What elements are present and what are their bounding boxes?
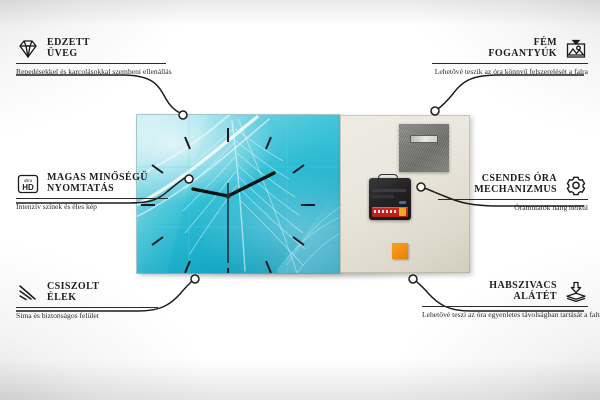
clock-mechanism: [369, 178, 411, 220]
callout-title: CSISZOLT ÉLEK: [47, 282, 99, 303]
ultra-hd-icon: ultra HD: [16, 173, 40, 195]
foam-pad-sample: [392, 243, 408, 259]
callout-rule: [432, 63, 588, 64]
callout-title-row: HABSZIVACS ALÁTÉT: [422, 281, 588, 303]
callout-title: CSENDES ÓRA MECHANIZMUS: [474, 174, 557, 195]
title-line-2: NYOMTATÁS: [47, 184, 148, 195]
battery-text: [374, 210, 398, 213]
background-vignette-top: [0, 0, 600, 26]
battery: [372, 207, 408, 217]
callout-title: HABSZIVACS ALÁTÉT: [489, 281, 557, 302]
svg-text:HD: HD: [22, 183, 34, 192]
callout-description-text: Lehetővé teszi az óra egyenletes távolsá…: [422, 310, 600, 319]
metal-hook-plate: [399, 124, 449, 172]
callout-rule: [438, 199, 588, 200]
mechanism-band-secondary: [372, 195, 394, 198]
callout-description: Lehetővé teszi az óra egyenletes távolsá…: [422, 310, 588, 320]
hanger-slot: [410, 135, 438, 143]
gear-icon: [564, 174, 588, 196]
foam-press-icon: [564, 281, 588, 303]
callout-description: Óramutatók hang nélkül: [438, 203, 588, 213]
callout-title-row: FÉM FOGANTYÚK: [432, 38, 588, 60]
title-line-2: MECHANIZMUS: [474, 185, 557, 196]
callout-description: Repedésekkel és karcolásokkal szembeni e…: [16, 67, 166, 77]
callout-title: FÉM FOGANTYÚK: [488, 38, 557, 59]
diamond-icon: [16, 38, 40, 60]
callout-title: MAGAS MINŐSÉGŰ NYOMTATÁS: [47, 173, 148, 194]
minute-hand: [228, 173, 274, 196]
callout-rule: [422, 306, 588, 307]
callout-title-row: CSISZOLT ÉLEK: [16, 282, 158, 304]
clock-center-cap: [225, 193, 230, 198]
product-image: [137, 115, 470, 273]
title-line-2: ÉLEK: [47, 293, 99, 304]
callout-description-text: Óramutatók hang nélkül: [514, 203, 588, 212]
callout-tempered-glass[interactable]: EDZETT ÜVEG Repedésekkel és karcolásokka…: [16, 38, 166, 77]
picture-hanger-icon: [564, 38, 588, 60]
callout-title-row: ultra HD MAGAS MINŐSÉGŰ NYOMTATÁS: [16, 173, 168, 195]
callout-high-quality-print[interactable]: ultra HD MAGAS MINŐSÉGŰ NYOMTATÁS Intenz…: [16, 173, 168, 212]
callout-title-row: CSENDES ÓRA MECHANIZMUS: [438, 174, 588, 196]
callout-title: EDZETT ÜVEG: [47, 38, 90, 59]
callout-rule: [16, 63, 166, 64]
callout-description: Lehetővé teszik az óra könnyű felszerelé…: [432, 67, 588, 77]
metal-grain-texture: [399, 124, 449, 172]
title-line-2: FOGANTYÚK: [488, 49, 557, 60]
title-line-2: ALÁTÉT: [489, 292, 557, 303]
mechanism-band: [372, 189, 406, 192]
callout-metal-hooks[interactable]: FÉM FOGANTYÚK Lehetővé teszik az óra kön…: [432, 38, 588, 77]
callout-rule: [16, 307, 158, 308]
mechanism-hanger-loop: [378, 174, 398, 183]
callout-description: Intenzív színek és éles kép: [16, 202, 168, 212]
callout-rule: [16, 198, 168, 199]
background-vignette-bottom: [0, 360, 600, 400]
infographic-canvas: EDZETT ÜVEG Repedésekkel és karcolásokka…: [0, 0, 600, 400]
callout-polished-edges[interactable]: CSISZOLT ÉLEK Sima és biztonságos felüle…: [16, 282, 158, 321]
callout-title-row: EDZETT ÜVEG: [16, 38, 166, 60]
mechanism-label: [399, 201, 406, 204]
callout-description: Sima és biztonságos felület: [16, 311, 158, 321]
battery-plus-terminal: [399, 208, 406, 216]
title-line-2: ÜVEG: [47, 49, 90, 60]
hour-hand: [193, 189, 228, 196]
callout-silent-mechanism[interactable]: CSENDES ÓRA MECHANIZMUS Óramutatók hang …: [438, 174, 588, 213]
callout-description-text: Lehetővé teszik az óra könnyű felszerelé…: [435, 67, 588, 76]
callout-foam-pad[interactable]: HABSZIVACS ALÁTÉT Lehetővé teszi az óra …: [422, 281, 588, 320]
polished-edges-icon: [16, 282, 40, 304]
